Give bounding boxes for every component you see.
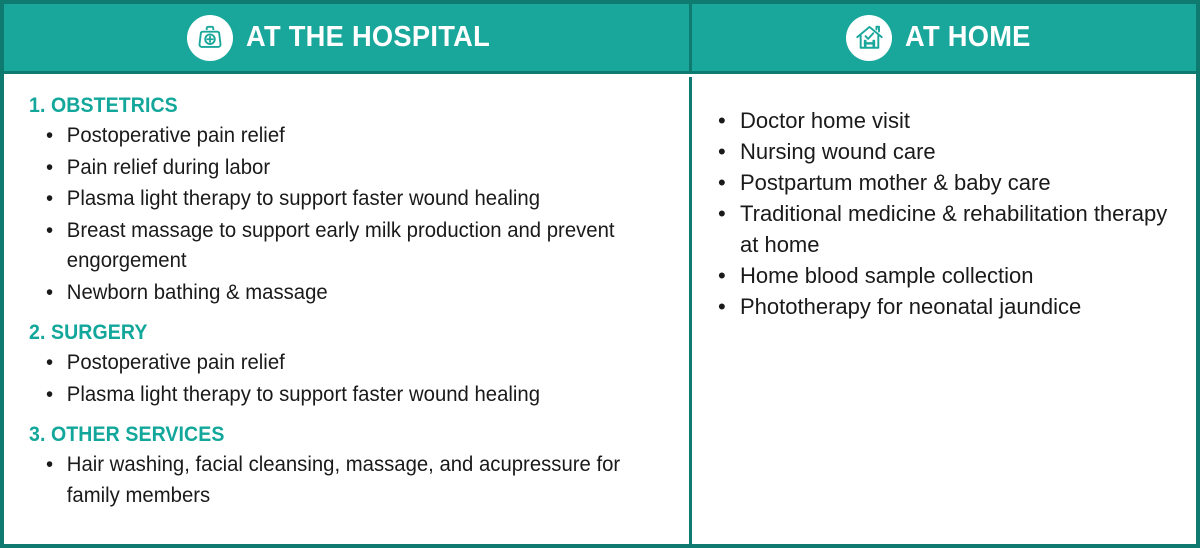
list-item-label: Postoperative pain relief xyxy=(67,123,285,147)
list-item: • Doctor home visit xyxy=(718,105,1179,136)
list-item-label: Hair washing, facial cleansing, massage,… xyxy=(67,452,620,507)
bullet-icon: • xyxy=(46,277,53,308)
list-item: • Newborn bathing & massage xyxy=(46,277,644,308)
bullet-icon: • xyxy=(46,183,53,214)
service-list-obstetrics: • Postoperative pain relief • Pain relie… xyxy=(29,120,679,307)
medical-bag-icon xyxy=(187,15,233,61)
list-item-label: Plasma light therapy to support faster w… xyxy=(67,382,540,406)
section-heading-obstetrics: 1. OBSTETRICS xyxy=(29,94,634,118)
section-heading-other-services: 3. OTHER SERVICES xyxy=(29,423,634,447)
header-cell-hospital: AT THE HOSPITAL xyxy=(4,4,689,71)
bullet-icon: • xyxy=(46,215,53,246)
bullet-icon: • xyxy=(46,379,53,410)
bullet-icon: • xyxy=(718,198,726,229)
list-item: • Pain relief during labor xyxy=(46,152,644,183)
list-item-label: Pain relief during labor xyxy=(67,155,270,179)
bullet-icon: • xyxy=(718,291,726,322)
list-item: • Postoperative pain relief xyxy=(46,347,644,378)
list-item: • Hair washing, facial cleansing, massag… xyxy=(46,449,644,510)
column-hospital: 1. OBSTETRICS • Postoperative pain relie… xyxy=(4,77,689,544)
table-body-row: 1. OBSTETRICS • Postoperative pain relie… xyxy=(4,77,1196,544)
list-item: • Plasma light therapy to support faster… xyxy=(46,183,644,214)
bullet-icon: • xyxy=(46,449,53,480)
table-header-row: AT THE HOSPITAL AT xyxy=(4,4,1196,74)
list-item-label: Doctor home visit xyxy=(740,108,910,133)
service-list-surgery: • Postoperative pain relief • Plasma lig… xyxy=(29,347,679,409)
services-comparison-table: AT THE HOSPITAL AT xyxy=(0,0,1200,548)
bullet-icon: • xyxy=(718,105,726,136)
bullet-icon: • xyxy=(46,347,53,378)
list-item-label: Newborn bathing & massage xyxy=(67,280,328,304)
list-item-label: Postpartum mother & baby care xyxy=(740,170,1051,195)
list-item-label: Home blood sample collection xyxy=(740,263,1034,288)
bullet-icon: • xyxy=(718,167,726,198)
header-cell-home: AT HOME xyxy=(689,4,1193,71)
bullet-icon: • xyxy=(718,136,726,167)
list-item: • Postoperative pain relief xyxy=(46,120,644,151)
list-item-label: Plasma light therapy to support faster w… xyxy=(67,186,540,210)
list-item: • Postpartum mother & baby care xyxy=(718,167,1179,198)
service-list-home: • Doctor home visit • Nursing wound care… xyxy=(714,105,1179,322)
bullet-icon: • xyxy=(46,120,53,151)
list-item-label: Traditional medicine & rehabilitation th… xyxy=(740,201,1167,257)
list-item-label: Breast massage to support early milk pro… xyxy=(67,218,615,273)
list-item: • Plasma light therapy to support faster… xyxy=(46,379,644,410)
section-heading-surgery: 2. SURGERY xyxy=(29,321,634,345)
list-item: • Traditional medicine & rehabilitation … xyxy=(718,198,1179,260)
list-item-label: Postoperative pain relief xyxy=(67,350,285,374)
list-item-label: Nursing wound care xyxy=(740,139,936,164)
bullet-icon: • xyxy=(718,260,726,291)
column-home: • Doctor home visit • Nursing wound care… xyxy=(689,77,1193,544)
header-title-hospital: AT THE HOSPITAL xyxy=(246,21,490,54)
list-item-label: Phototherapy for neonatal jaundice xyxy=(740,294,1081,319)
list-item: • Phototherapy for neonatal jaundice xyxy=(718,291,1179,322)
header-title-home: AT HOME xyxy=(905,21,1031,54)
bullet-icon: • xyxy=(46,152,53,183)
service-list-other-services: • Hair washing, facial cleansing, massag… xyxy=(29,449,679,510)
list-item: • Nursing wound care xyxy=(718,136,1179,167)
house-health-icon xyxy=(846,15,892,61)
list-item: • Breast massage to support early milk p… xyxy=(46,215,644,276)
list-item: • Home blood sample collection xyxy=(718,260,1179,291)
